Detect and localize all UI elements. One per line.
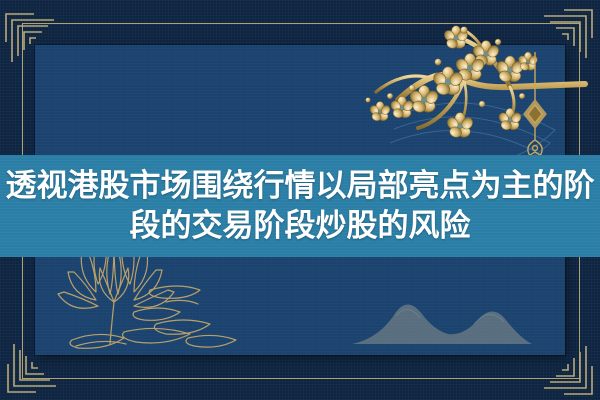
page-title: 透视港股市场围绕行情以局部亮点为主的阶段的交易阶段炒股的风险 bbox=[4, 166, 596, 246]
poster-canvas: 透视港股市场围绕行情以局部亮点为主的阶段的交易阶段炒股的风险 bbox=[0, 0, 600, 400]
title-band: 透视港股市场围绕行情以局部亮点为主的阶段的交易阶段炒股的风险 bbox=[0, 155, 600, 257]
